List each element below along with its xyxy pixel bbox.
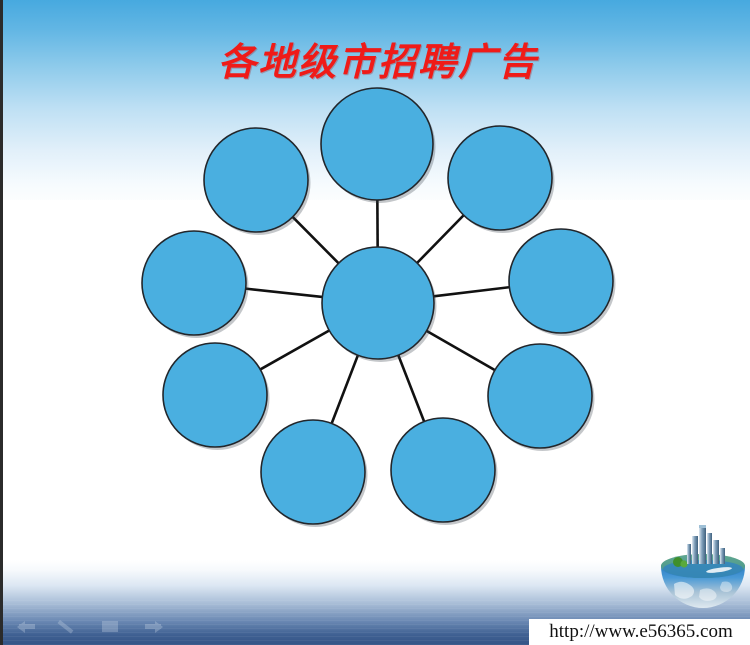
- spoke-to-node-left: [245, 289, 324, 298]
- node-upper-right[interactable]: [448, 126, 552, 230]
- spoke-to-node-upper-right: [416, 214, 464, 263]
- spoke-to-node-upper-left: [292, 216, 339, 264]
- spoke-to-node-bottom-left: [331, 354, 358, 424]
- url-watermark: http://www.e56365.com: [529, 619, 750, 645]
- url-watermark-text: http://www.e56365.com: [549, 621, 732, 643]
- node-bottom-left[interactable]: [261, 420, 365, 524]
- spoke-to-node-right: [433, 287, 511, 296]
- node-upper-left[interactable]: [204, 128, 308, 232]
- earth-city-globe: [656, 522, 750, 617]
- hub-and-spoke-diagram: [3, 0, 750, 645]
- slide-canvas: 各地级市招聘广告: [0, 0, 750, 645]
- node-circles: [142, 88, 616, 527]
- spoke-to-node-lower-right: [426, 330, 496, 370]
- node-left[interactable]: [142, 231, 246, 335]
- node-lower-left[interactable]: [163, 343, 267, 447]
- node-bottom-right[interactable]: [391, 418, 495, 522]
- center-node[interactable]: [322, 247, 434, 359]
- node-right[interactable]: [509, 229, 613, 333]
- spoke-to-node-bottom-right: [398, 354, 425, 422]
- node-top[interactable]: [321, 88, 433, 200]
- node-lower-right[interactable]: [488, 344, 592, 448]
- spoke-to-node-lower-left: [259, 330, 330, 370]
